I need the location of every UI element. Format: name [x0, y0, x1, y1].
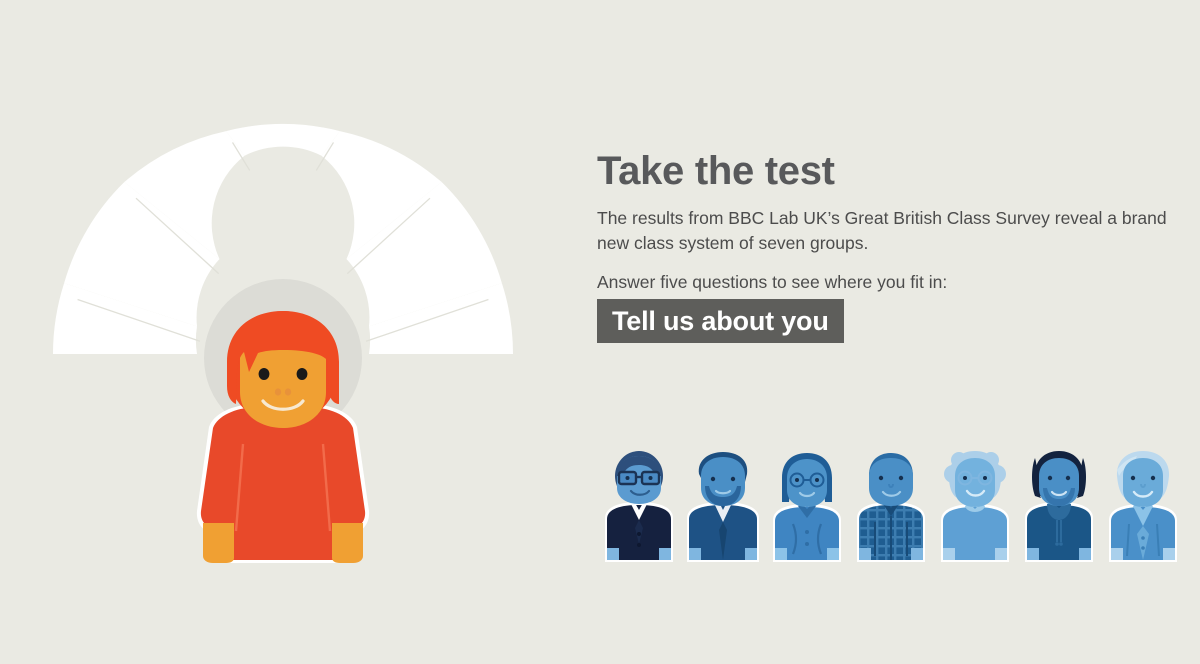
class-figure-3[interactable]: [765, 446, 849, 566]
avatar-hand-left: [203, 523, 234, 563]
intro-paragraph: The results from BBC Lab UK’s Great Brit…: [597, 206, 1173, 257]
content-panel: Take the test The results from BBC Lab U…: [597, 0, 1200, 664]
class-figures-row: [597, 446, 1200, 566]
avatar-nostril-left: [275, 388, 281, 395]
page-title: Take the test: [597, 151, 835, 191]
class-figure-2-icon: [681, 446, 765, 566]
class-figure-4[interactable]: [849, 446, 933, 566]
class-figure-6-icon: [1017, 446, 1101, 566]
tell-us-about-you-button[interactable]: Tell us about you: [597, 299, 844, 343]
avatar-eye-right: [297, 368, 308, 380]
avatar-nostril-right: [285, 388, 291, 395]
avatar-figure: [0, 0, 570, 664]
class-figure-7-icon: [1101, 446, 1185, 566]
class-figure-4-icon: [849, 446, 933, 566]
class-figure-7[interactable]: [1101, 446, 1185, 566]
class-figure-6[interactable]: [1017, 446, 1101, 566]
class-figure-5-icon: [933, 446, 1017, 566]
avatar-eye-left: [259, 368, 270, 380]
avatar-hand-right: [332, 523, 363, 563]
instruction-paragraph: Answer five questions to see where you f…: [597, 270, 1173, 295]
class-figure-1[interactable]: [597, 446, 681, 566]
class-figure-1-icon: [597, 446, 681, 566]
class-illustration: [0, 0, 570, 664]
class-figure-3-icon: [765, 446, 849, 566]
page-root: Take the test The results from BBC Lab U…: [0, 0, 1200, 664]
class-figure-2[interactable]: [681, 446, 765, 566]
class-figure-5[interactable]: [933, 446, 1017, 566]
